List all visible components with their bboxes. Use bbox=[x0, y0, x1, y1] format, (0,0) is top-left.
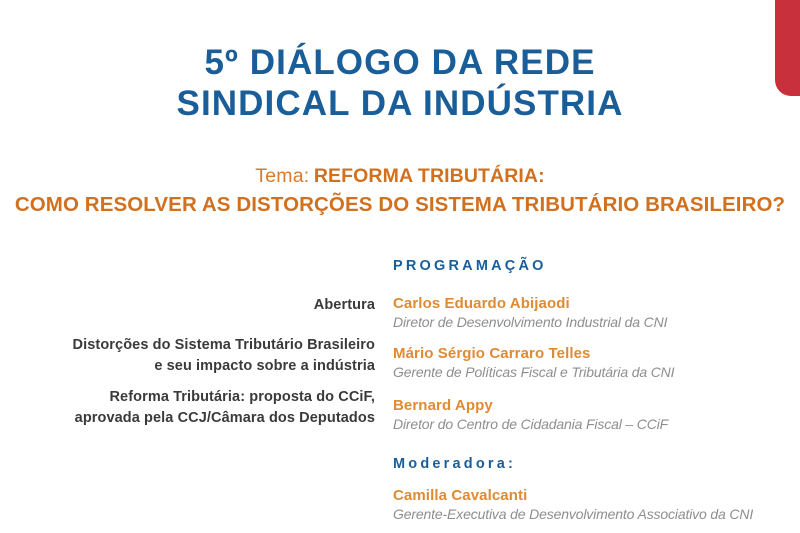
slide-canvas: 5º DIÁLOGO DA REDE SINDICAL DA INDÚSTRIA… bbox=[0, 0, 800, 533]
subtitle-line-1: Tema: REFORMA TRIBUTÁRIA: bbox=[0, 163, 800, 191]
speaker-role: Gerente de Políticas Fiscal e Tributária… bbox=[393, 363, 793, 382]
moderator-heading: Moderadora: bbox=[393, 456, 516, 472]
subtitle-tema-label: Tema: bbox=[255, 165, 309, 187]
programme-row-label-line: aprovada pela CCJ/Câmara dos Deputados bbox=[15, 408, 375, 429]
subtitle-theme-text: REFORMA TRIBUTÁRIA: bbox=[314, 165, 545, 187]
speaker-name: Carlos Eduardo Abijaodi bbox=[393, 294, 793, 313]
programme-heading: PROGRAMAÇÃO bbox=[393, 258, 547, 274]
programme-row-label-line: Reforma Tributária: proposta do CCiF, bbox=[15, 387, 375, 408]
programme-row-label: Distorções do Sistema Tributário Brasile… bbox=[15, 335, 375, 377]
title-line-2: SINDICAL DA INDÚSTRIA bbox=[0, 83, 800, 124]
page-subtitle: Tema: REFORMA TRIBUTÁRIA: COMO RESOLVER … bbox=[0, 163, 800, 219]
speaker-role: Diretor do Centro de Cidadania Fiscal – … bbox=[393, 415, 793, 434]
speaker-name: Mário Sérgio Carraro Telles bbox=[393, 344, 793, 363]
programme-row-label: Reforma Tributária: proposta do CCiF, ap… bbox=[15, 387, 375, 429]
page-title: 5º DIÁLOGO DA REDE SINDICAL DA INDÚSTRIA bbox=[0, 42, 800, 124]
speaker-role: Diretor de Desenvolvimento Industrial da… bbox=[393, 313, 793, 332]
programme-row-speaker: Mário Sérgio Carraro Telles Gerente de P… bbox=[393, 344, 793, 382]
programme-row-speaker: Carlos Eduardo Abijaodi Diretor de Desen… bbox=[393, 294, 793, 332]
title-line-1: 5º DIÁLOGO DA REDE bbox=[0, 42, 800, 83]
speaker-name: Bernard Appy bbox=[393, 396, 793, 415]
moderator-role: Gerente-Executiva de Desenvolvimento Ass… bbox=[393, 505, 793, 524]
moderator-person: Camilla Cavalcanti Gerente-Executiva de … bbox=[393, 486, 793, 524]
programme-row-speaker: Bernard Appy Diretor do Centro de Cidada… bbox=[393, 396, 793, 434]
moderator-name: Camilla Cavalcanti bbox=[393, 486, 793, 505]
programme-row-label-line: Abertura bbox=[15, 295, 375, 316]
programme-row-label-line: Distorções do Sistema Tributário Brasile… bbox=[15, 335, 375, 356]
subtitle-line-2: COMO RESOLVER AS DISTORÇÕES DO SISTEMA T… bbox=[0, 191, 800, 219]
programme-row-label-line: e seu impacto sobre a indústria bbox=[15, 356, 375, 377]
programme-row-label: Abertura bbox=[15, 295, 375, 316]
